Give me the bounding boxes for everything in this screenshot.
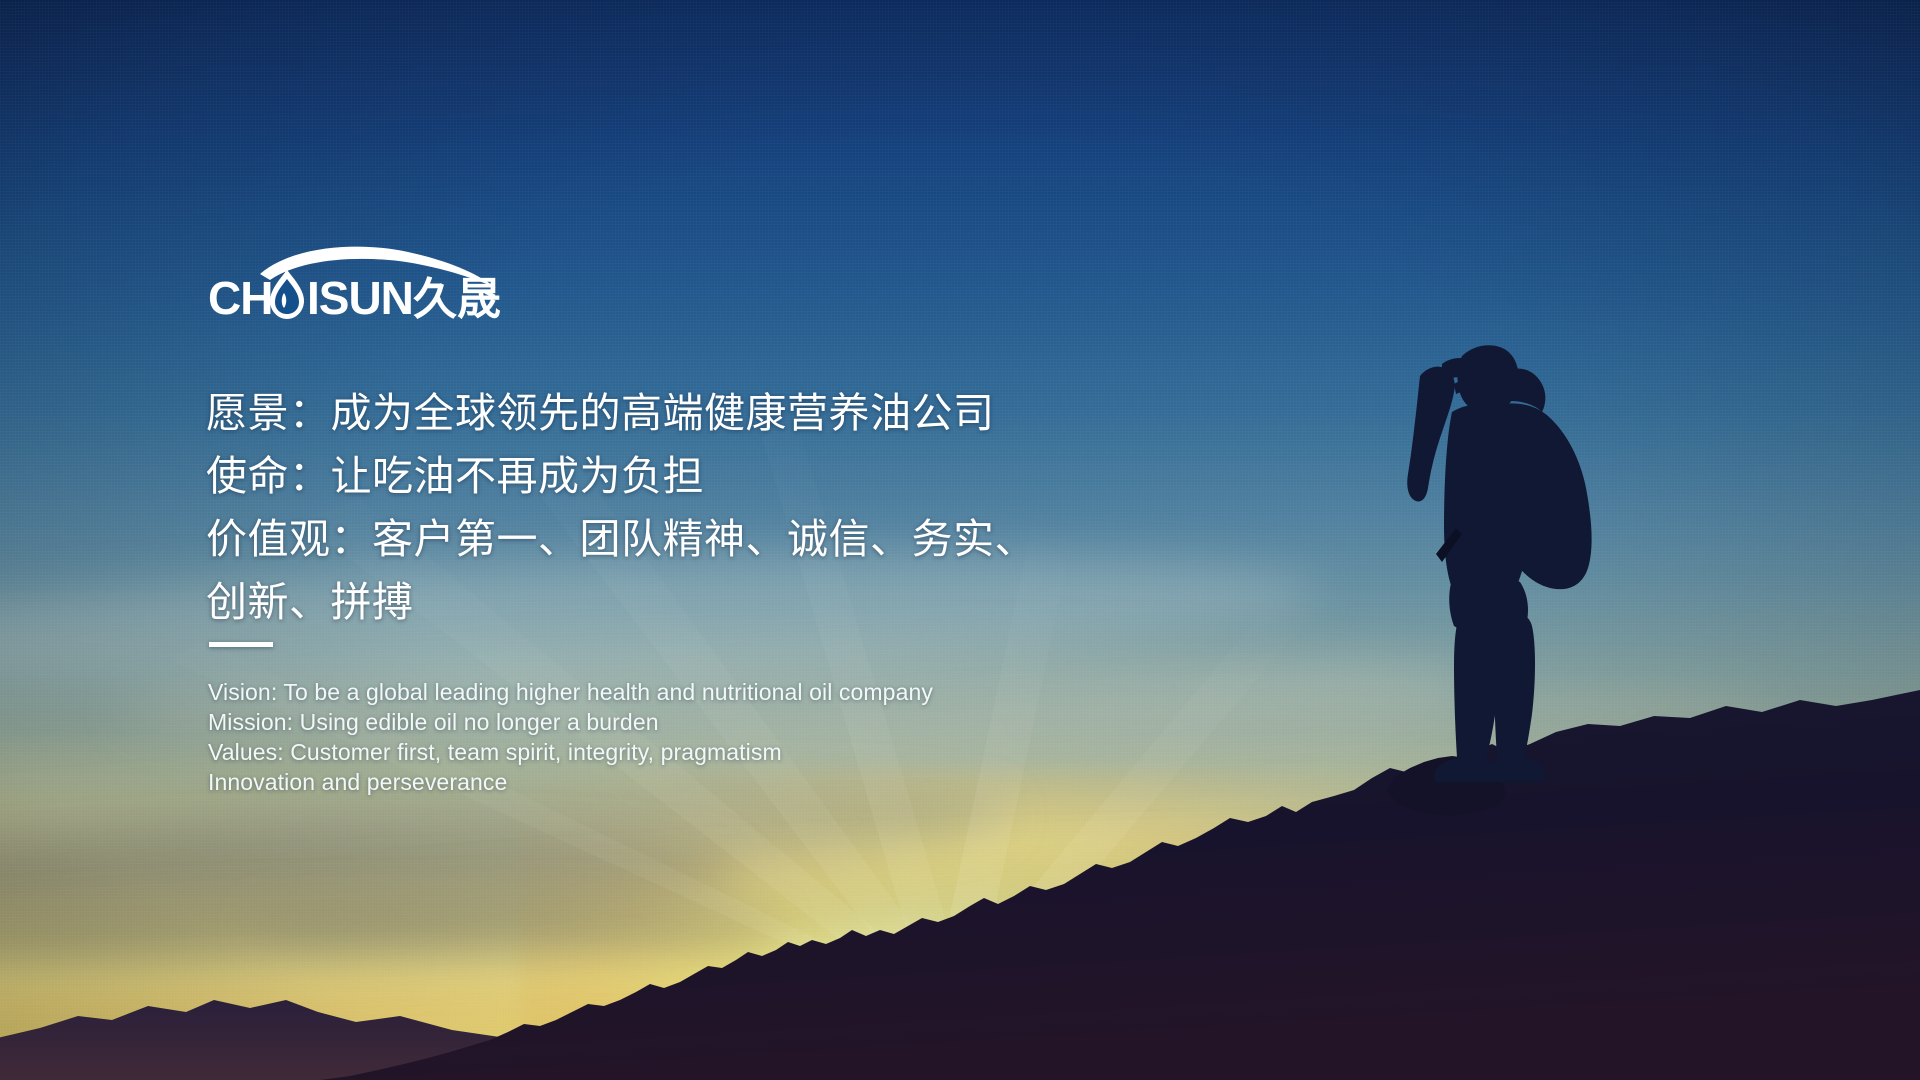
- section-divider: [209, 642, 273, 647]
- logo-wordmark-isun: ISUN: [307, 272, 413, 324]
- choisun-logo[interactable]: CH ISUN 久晟: [208, 248, 548, 322]
- mission-line-cn: 使命：让吃油不再成为负担: [206, 445, 1106, 508]
- values-line-en-continued: Innovation and perseverance: [208, 767, 1108, 797]
- slide-canvas: CH ISUN 久晟 愿景：成为全球领先的高端健康营养油公司 使命：让吃油不再成…: [0, 0, 1920, 1080]
- choisun-logo-mark: CH ISUN 久晟: [208, 248, 548, 322]
- values-line-cn: 价值观：客户第一、团队精神、诚信、务实、: [206, 508, 1106, 571]
- hiker-with-binoculars-silhouette: [1390, 342, 1610, 782]
- mission-line-en: Mission: Using edible oil no longer a bu…: [208, 707, 1108, 737]
- water-drop-icon: [270, 270, 304, 319]
- values-line-en: Values: Customer first, team spirit, int…: [208, 737, 1108, 767]
- vision-line-cn: 愿景：成为全球领先的高端健康营养油公司: [206, 382, 1106, 445]
- logo-wordmark-ch: CH: [208, 272, 272, 324]
- chinese-statement-block: 愿景：成为全球领先的高端健康营养油公司 使命：让吃油不再成为负担 价值观：客户第…: [206, 382, 1106, 634]
- logo-chinese-name: 久晟: [413, 275, 501, 324]
- values-line-cn-continued: 创新、拼搏: [206, 571, 1106, 634]
- english-statement-block: Vision: To be a global leading higher he…: [208, 677, 1108, 797]
- vision-line-en: Vision: To be a global leading higher he…: [208, 677, 1108, 707]
